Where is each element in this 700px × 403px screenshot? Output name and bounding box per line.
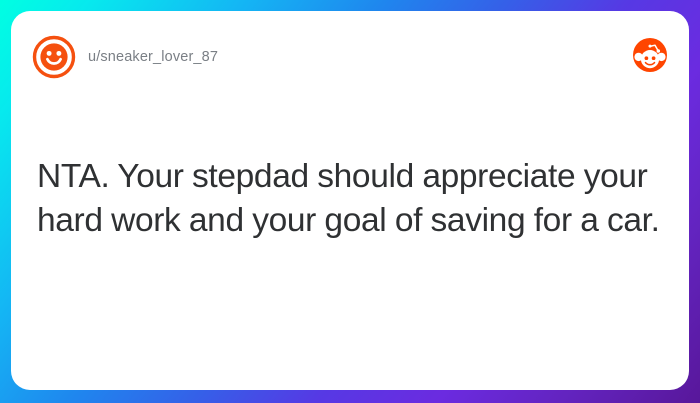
comment-header: u/sneaker_lover_87 [11, 11, 689, 103]
screenshot-root: u/sneaker_lover_87 NTA. Your stepdad sho… [0, 0, 700, 403]
comment-body-text: NTA. Your stepdad should appreciate your… [37, 155, 669, 243]
reddit-comment-card: u/sneaker_lover_87 NTA. Your stepdad sho… [11, 11, 689, 390]
smiley-face-avatar-icon[interactable] [32, 35, 76, 79]
comment-author-username[interactable]: u/sneaker_lover_87 [88, 47, 218, 67]
reddit-snoo-icon [633, 38, 667, 72]
